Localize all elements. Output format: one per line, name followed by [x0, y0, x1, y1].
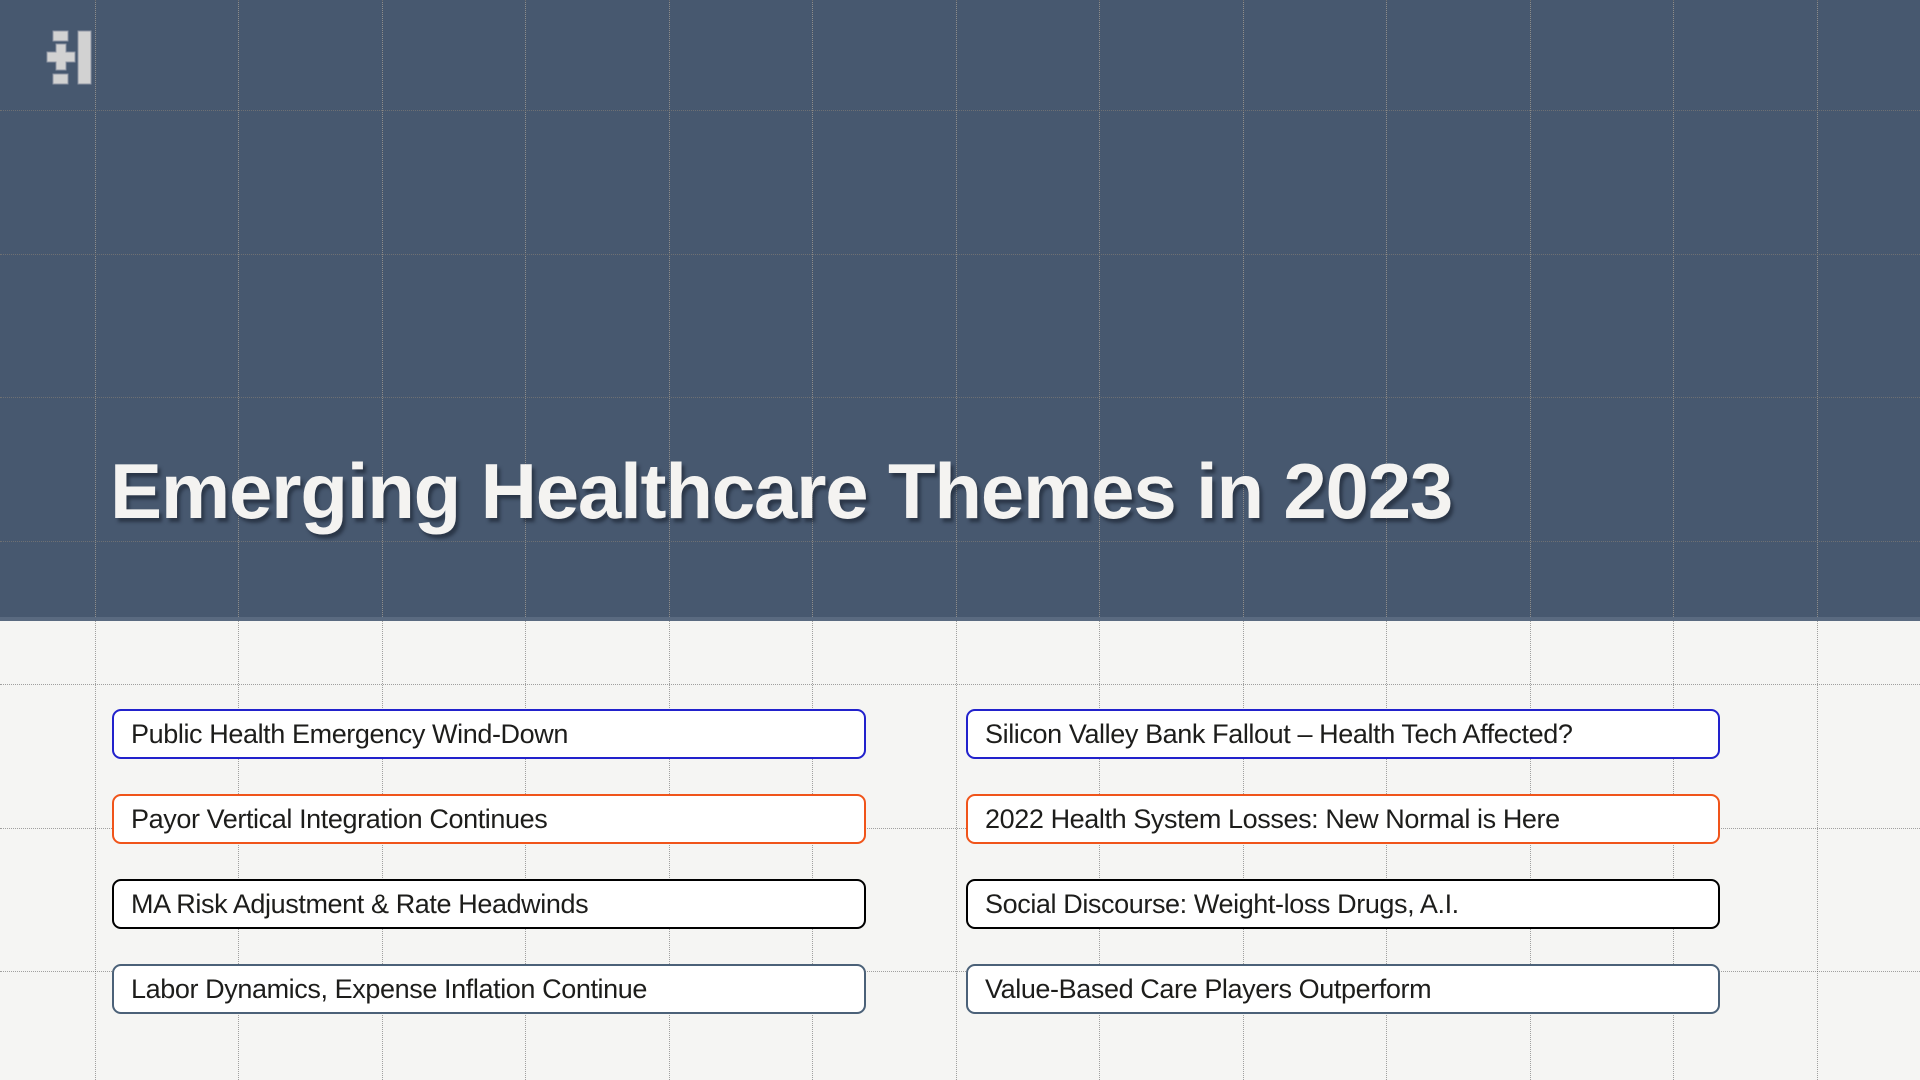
theme-label: Social Discourse: Weight-loss Drugs, A.I… [968, 889, 1459, 920]
theme-label: Public Health Emergency Wind-Down [114, 719, 568, 750]
theme-box-right-2[interactable]: 2022 Health System Losses: New Normal is… [966, 794, 1720, 844]
theme-box-right-1[interactable]: Silicon Valley Bank Fallout – Health Tec… [966, 709, 1720, 759]
page-title: Emerging Healthcare Themes in 2023 [110, 452, 1452, 530]
theme-box-left-1[interactable]: Public Health Emergency Wind-Down [112, 709, 866, 759]
theme-label: 2022 Health System Losses: New Normal is… [968, 804, 1560, 835]
slide-canvas: Emerging Healthcare Themes in 2023 Publi… [0, 0, 1920, 1080]
theme-box-left-3[interactable]: MA Risk Adjustment & Rate Headwinds [112, 879, 866, 929]
theme-box-right-4[interactable]: Value-Based Care Players Outperform [966, 964, 1720, 1014]
theme-label: Payor Vertical Integration Continues [114, 804, 547, 835]
theme-label: Silicon Valley Bank Fallout – Health Tec… [968, 719, 1572, 750]
theme-label: Labor Dynamics, Expense Inflation Contin… [114, 974, 647, 1005]
theme-label: MA Risk Adjustment & Rate Headwinds [114, 889, 588, 920]
theme-box-left-2[interactable]: Payor Vertical Integration Continues [112, 794, 866, 844]
theme-box-left-4[interactable]: Labor Dynamics, Expense Inflation Contin… [112, 964, 866, 1014]
theme-label: Value-Based Care Players Outperform [968, 974, 1431, 1005]
themes-container: Public Health Emergency Wind-Down Payor … [0, 0, 1920, 1080]
hospital-plus-h-logo [42, 28, 104, 90]
theme-box-right-3[interactable]: Social Discourse: Weight-loss Drugs, A.I… [966, 879, 1720, 929]
